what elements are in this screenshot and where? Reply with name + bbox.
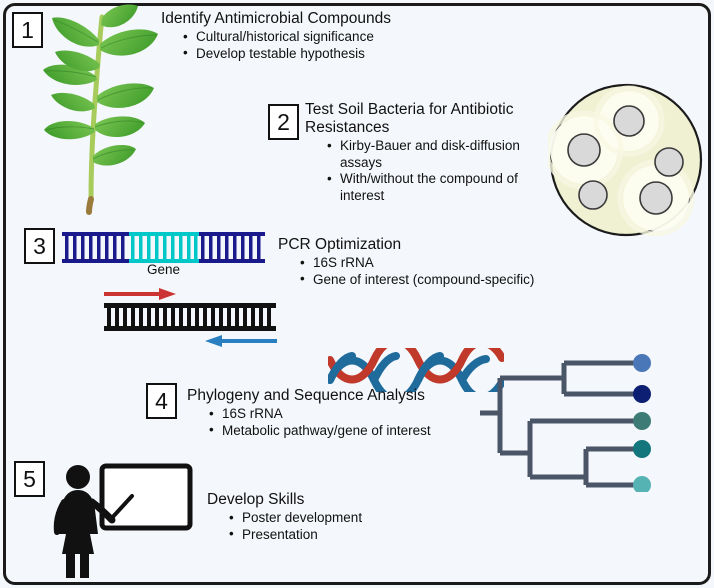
step-1-number: 1: [12, 12, 43, 48]
step-5-text: Develop Skills Poster development Presen…: [207, 491, 467, 543]
presenter-whiteboard-illustration: [46, 462, 196, 580]
step-2-number: 2: [268, 104, 299, 140]
step-3-text: PCR Optimization 16S rRNA Gene of intere…: [278, 236, 568, 288]
step-3-bullets: 16S rRNA Gene of interest (compound-spec…: [278, 255, 568, 288]
step-3-heading: PCR Optimization: [278, 236, 568, 254]
dna-ladder-diagram: [104, 303, 276, 331]
step-5-bullet-1: Poster development: [229, 510, 467, 527]
step-3-bullet-1: 16S rRNA: [300, 255, 568, 272]
step-1-bullets: Cultural/historical significance Develop…: [161, 29, 461, 62]
step-5-bullet-2: Presentation: [229, 527, 467, 544]
petri-dish-illustration: [548, 82, 704, 238]
step-2-bullet-1: Kirby-Bauer and disk-diffusion assays: [327, 138, 550, 171]
step-3-bullet-2: Gene of interest (compound-specific): [300, 272, 568, 289]
step-2-heading: Test Soil Bacteria for Antibiotic Resist…: [305, 101, 550, 137]
step-2-bullets: Kirby-Bauer and disk-diffusion assays Wi…: [305, 138, 550, 204]
step-4-heading: Phylogeny and Sequence Analysis: [187, 387, 467, 405]
step-2-text: Test Soil Bacteria for Antibiotic Resist…: [305, 101, 550, 204]
step-1-bullet-1: Cultural/historical significance: [183, 29, 461, 46]
step-4-bullet-2: Metabolic pathway/gene of interest: [209, 423, 467, 440]
step-5-number: 5: [14, 461, 45, 497]
step-2-bullet-2: With/without the compound of interest: [327, 171, 550, 204]
step-5-bullets: Poster development Presentation: [207, 510, 467, 543]
phylogenetic-tree: [478, 352, 658, 492]
plant-illustration: [42, 4, 172, 216]
forward-primer-arrow: [104, 287, 176, 297]
workflow-figure: 1: [0, 0, 714, 588]
step-1-heading: Identify Antimicrobial Compounds: [161, 10, 461, 28]
step-4-bullets: 16S rRNA Metabolic pathway/gene of inter…: [187, 406, 467, 439]
step-5-heading: Develop Skills: [207, 491, 467, 509]
reverse-primer-arrow: [205, 334, 277, 344]
step-4-bullet-1: 16S rRNA: [209, 406, 467, 423]
step-4-text: Phylogeny and Sequence Analysis 16S rRNA…: [187, 387, 467, 439]
step-3-number: 3: [24, 228, 55, 264]
gene-label: Gene: [62, 262, 265, 277]
gene-diagram: Gene: [62, 232, 265, 280]
step-1-text: Identify Antimicrobial Compounds Cultura…: [161, 10, 461, 62]
step-4-number: 4: [146, 383, 177, 419]
step-1-bullet-2: Develop testable hypothesis: [183, 46, 461, 63]
